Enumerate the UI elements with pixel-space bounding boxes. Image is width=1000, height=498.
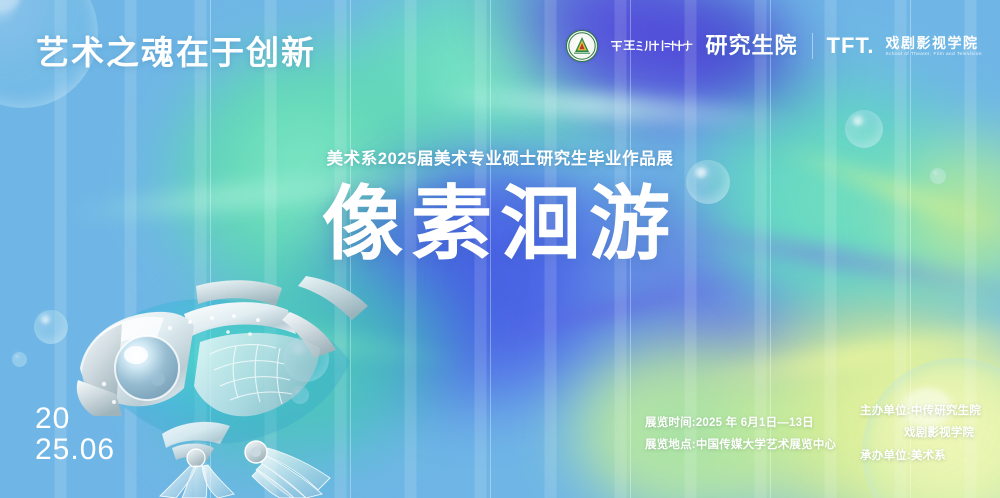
- bubble-right-small: [930, 168, 946, 184]
- tft-logo-mark: TFT.: [827, 35, 875, 57]
- host-organizer-line2: 戏剧影视学院: [860, 422, 981, 444]
- date-year-prefix: 20: [35, 404, 115, 435]
- date-year-month: 25.06: [35, 435, 115, 466]
- exhibition-time: 展览时间:2025 年 6月1日—13日: [645, 412, 836, 434]
- university-name-cn: [609, 38, 695, 55]
- organizer-info: 主办单位:中传研究生院 戏剧影视学院 承办单位:美术系: [860, 400, 981, 467]
- cuc-emblem-icon: [566, 30, 598, 62]
- school-name-en: School of Theater, Film and Television: [886, 52, 982, 57]
- host-organizer-line1: 主办单位:中传研究生院: [860, 400, 981, 422]
- co-host-organizer: 承办单位:美术系: [860, 445, 981, 467]
- exhibition-venue: 展览地点:中国传媒大学艺术展览中心: [645, 434, 836, 456]
- bubble-center: [686, 160, 730, 204]
- poster-date: 20 25.06: [35, 404, 115, 465]
- exhibition-poster: 艺术之魂在于创新: [0, 0, 1000, 498]
- exhibition-subtitle: 美术系2025届美术专业硕士研究生毕业作品展: [327, 151, 674, 168]
- bubble-small-left-2: [12, 352, 27, 367]
- exhibition-info: 展览时间:2025 年 6月1日—13日 展览地点:中国传媒大学艺术展览中心: [645, 412, 836, 457]
- school-name-block: 戏剧影视学院 School of Theater, Film and Telev…: [886, 36, 982, 57]
- page-title: 像素洄游: [322, 183, 678, 269]
- school-name-cn: 戏剧影视学院: [886, 36, 982, 50]
- poster-slogan: 艺术之魂在于创新: [36, 36, 316, 69]
- logo-bar: 研究生院 TFT. 戏剧影视学院 School of Theater, Film…: [566, 30, 982, 62]
- graduate-school-label: 研究生院: [706, 35, 798, 57]
- logo-divider: [812, 33, 813, 59]
- bubble-right: [845, 110, 883, 148]
